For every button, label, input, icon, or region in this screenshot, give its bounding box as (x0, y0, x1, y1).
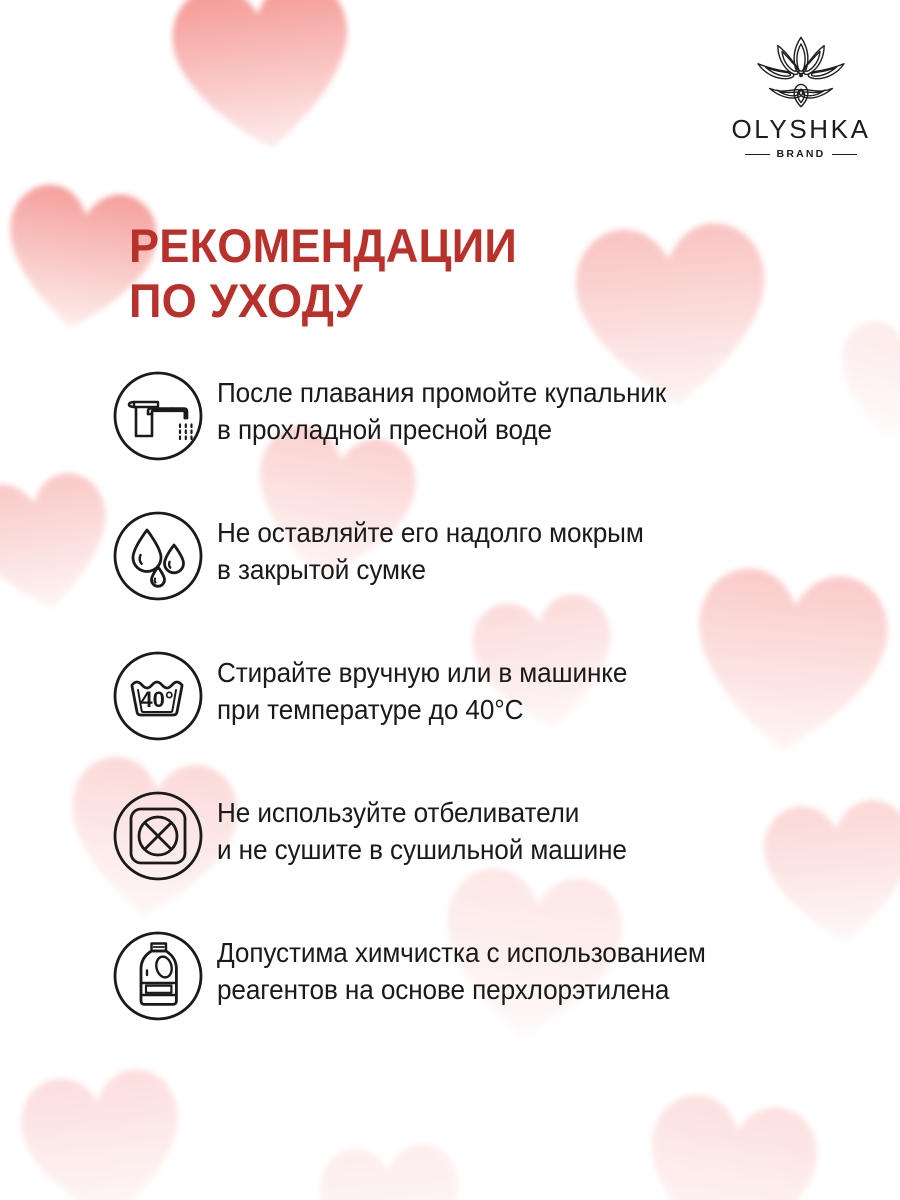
wash-temp-label: 40° (140, 687, 173, 712)
faucet-rinse-icon (112, 370, 204, 462)
brand-subtitle-row: BRAND (717, 149, 885, 160)
heart-shape (159, 0, 368, 169)
care-item-text: Не используйте отбеливатели и не сушите … (217, 788, 820, 868)
no-bleach-no-tumble-dry-icon (112, 790, 204, 882)
care-instructions-page: OLYSHKA BRAND РЕКОМЕНДАЦИИ ПО УХОДУ (0, 0, 900, 1200)
brand-name: OLYSHKA (717, 116, 885, 142)
wash-tub-40-icon: 40° (112, 650, 204, 742)
dry-clean-bottle-icon (112, 930, 204, 1022)
care-item: Допустима химчистка с использованием реа… (112, 928, 852, 1068)
brand-rule-right (832, 154, 857, 155)
care-instructions-list: После плавания промойте купальник в прох… (112, 368, 852, 1068)
brand-subtitle: BRAND (777, 149, 826, 160)
care-item: Не используйте отбеливатели и не сушите … (112, 788, 852, 928)
brand-logo: OLYSHKA BRAND (717, 34, 885, 166)
care-item-text: Стирайте вручную или в машинке при темпе… (217, 648, 820, 728)
care-item-text: После плавания промойте купальник в прох… (217, 368, 820, 448)
heart-shape (627, 1075, 833, 1200)
care-item-text: Не оставляйте его надолго мокрым в закры… (217, 508, 820, 588)
heart-shape (8, 1052, 197, 1200)
care-item: После плавания промойте купальник в прох… (112, 368, 852, 508)
heart-shape (311, 1131, 471, 1200)
page-title: РЕКОМЕНДАЦИИ ПО УХОДУ (129, 219, 517, 328)
care-item: Не оставляйте его надолго мокрым в закры… (112, 508, 852, 648)
heart-shape (0, 456, 128, 630)
care-item: 40° Стирайте вручную или в машинке при т… (112, 648, 852, 788)
water-drops-icon (112, 510, 204, 602)
brand-rule-left (745, 154, 770, 155)
care-item-text: Допустима химчистка с использованием реа… (217, 928, 820, 1008)
lotus-flower-icon (750, 34, 852, 110)
